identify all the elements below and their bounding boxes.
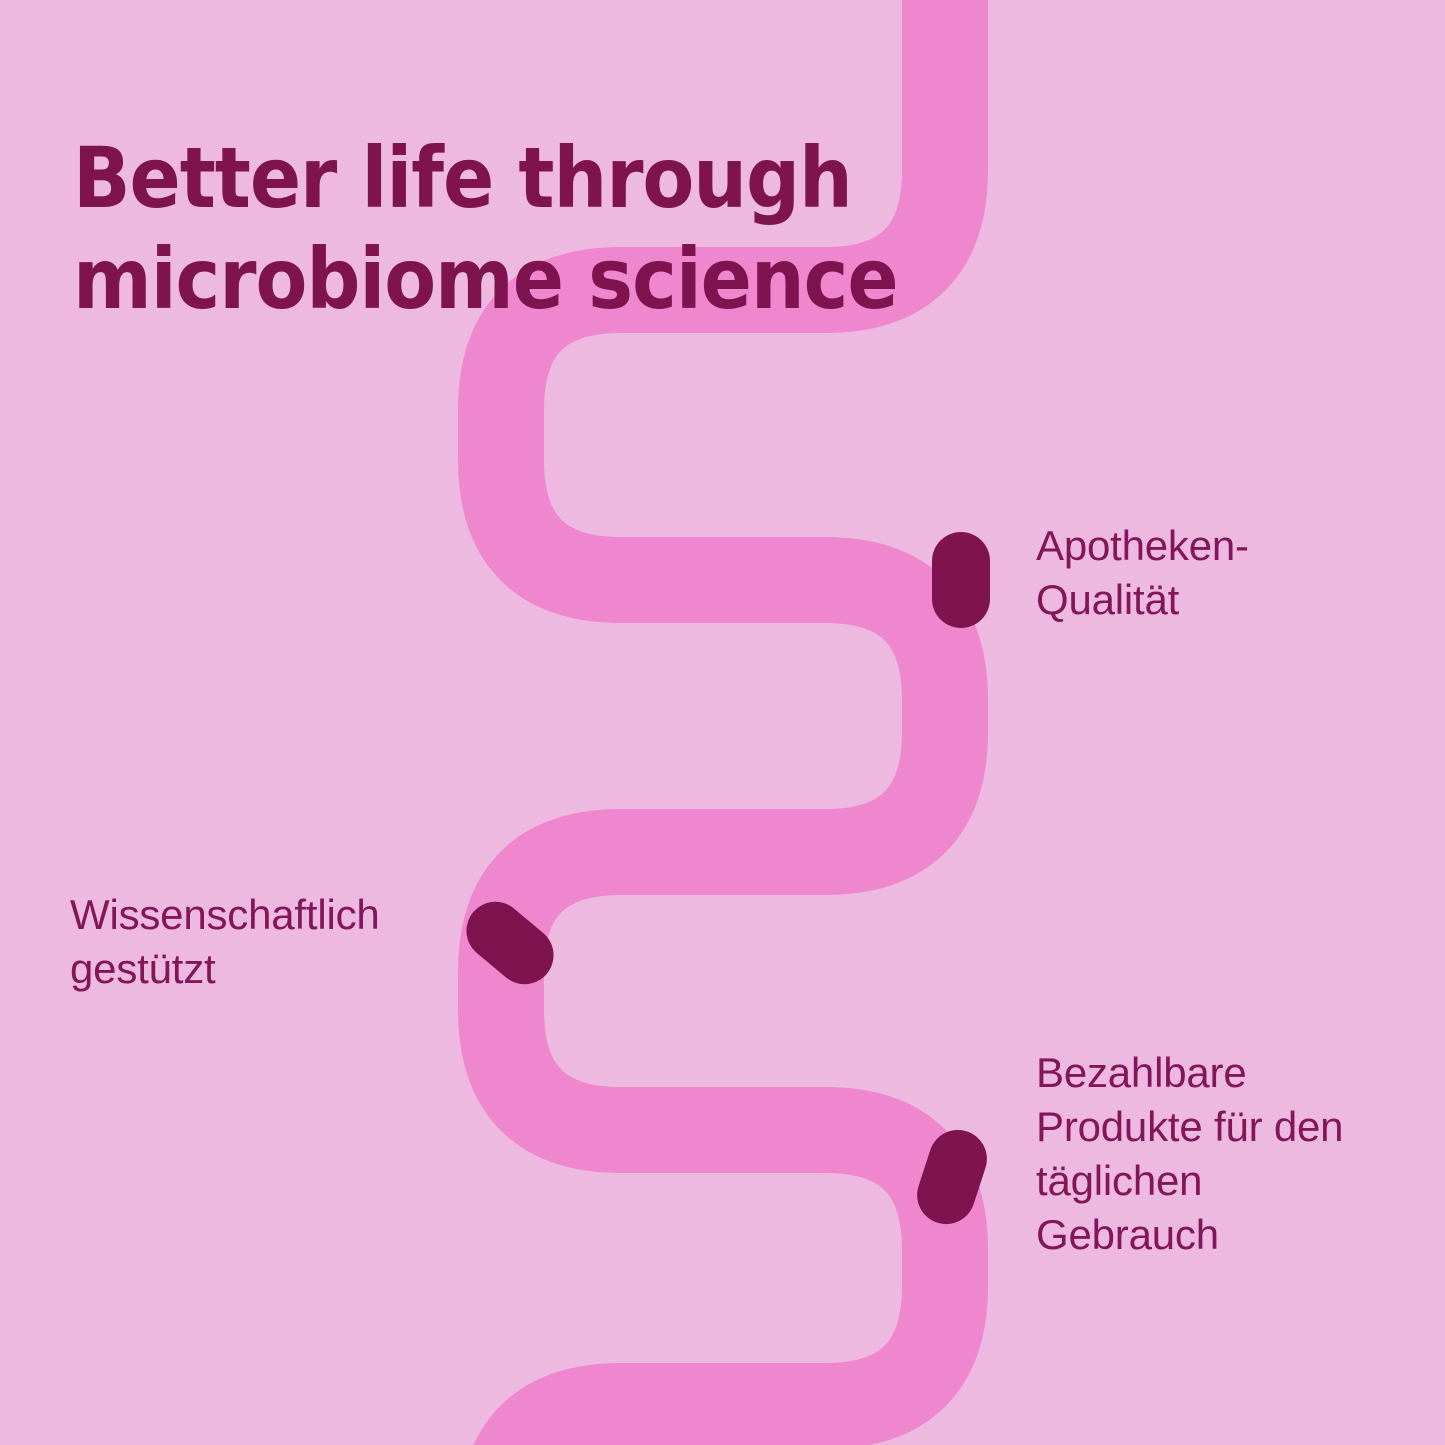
capsule-marker-apotheken	[932, 532, 990, 628]
poster-canvas: Better life through microbiome science A…	[0, 0, 1445, 1445]
feature-label-bezahlbare-produkte: Bezahlbare Produkte für den täglichen Ge…	[1036, 1046, 1416, 1262]
page-title: Better life through microbiome science	[73, 128, 937, 330]
feature-label-apotheken-qualitaet: Apotheken- Qualität	[1036, 519, 1416, 627]
feature-label-wissenschaftlich-gestuetzt: Wissenschaftlich gestützt	[70, 888, 470, 996]
